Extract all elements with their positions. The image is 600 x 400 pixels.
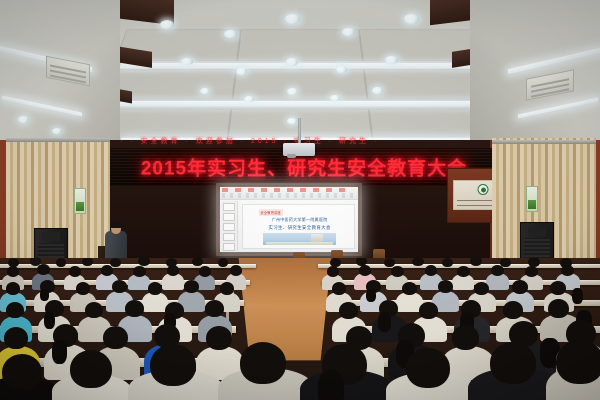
audience-head (110, 258, 121, 267)
downlight (287, 118, 297, 124)
led-banner-text: 2015年实习生、研究生安全教育大会 (108, 154, 500, 181)
projection-screen: 安全教育讲座 广州中医药大学第一附属医院 实习生、研究生安全教育大会 (220, 187, 358, 252)
audience-head (138, 258, 150, 266)
downlight (18, 116, 29, 123)
audience-head (425, 265, 437, 276)
downlight (52, 128, 62, 134)
downlight (336, 66, 347, 73)
current-slide: 安全教育讲座 广州中医药大学第一附属医院 实习生、研究生安全教育大会 (242, 204, 355, 249)
audience-ponytail (318, 370, 344, 400)
audience-head (218, 258, 228, 267)
audience-head (4, 327, 28, 349)
downlight (244, 96, 254, 102)
institution-emblem-icon (478, 184, 489, 195)
audience-head (184, 280, 199, 293)
poster-left (74, 188, 86, 214)
audience-area (0, 258, 600, 400)
audience-head (199, 266, 211, 277)
audience-head (406, 348, 450, 388)
audience-head (332, 282, 346, 295)
slide-line-1: 广州中医药大学第一附属医院 (254, 217, 345, 223)
audience-head (452, 325, 479, 350)
downlight (224, 30, 237, 38)
audience-head (384, 258, 395, 267)
audience-ponytail (52, 340, 67, 364)
audience-head (103, 326, 128, 349)
audience-head (206, 326, 232, 350)
strip-light (119, 101, 481, 107)
slide-photo (263, 233, 336, 246)
audience-head (56, 258, 66, 267)
audience-head (359, 265, 371, 276)
audience-ponytail (44, 312, 55, 329)
audience-head (6, 282, 20, 295)
audience-head (101, 265, 113, 276)
audience-head (339, 302, 358, 319)
projection-screen-frame: 安全教育讲座 广州中医药大学第一附属医院 实习生、研究生安全教育大会 (216, 183, 362, 256)
audience-head (125, 300, 144, 317)
audience-head (503, 301, 523, 319)
audience-ponytail (378, 312, 391, 332)
downlight (286, 58, 298, 66)
strip-light (120, 63, 480, 68)
audience-head (37, 264, 50, 275)
downlight (160, 20, 174, 29)
audience-head (327, 266, 339, 277)
audience-head (230, 265, 242, 276)
audience-head (167, 265, 179, 276)
audience-head (442, 258, 453, 267)
powerpoint-ribbon (220, 187, 358, 200)
conference-photo: · · 安全教育 · 欢迎参加 · 2015 · 实习生 · 研究生 · 201… (0, 0, 600, 400)
audience-head (133, 266, 146, 277)
slide-line-2: 实习生、研究生安全教育大会 (254, 225, 345, 231)
audience-head (561, 265, 574, 276)
audience-head (150, 344, 196, 386)
projector-mount-pole (298, 118, 301, 146)
presenter-body (105, 231, 127, 261)
downlight (181, 58, 193, 65)
curtain-rod-left (6, 138, 110, 142)
audience-head (525, 266, 538, 277)
audience-ponytail (572, 288, 583, 304)
audience-head (7, 266, 19, 277)
audience-head (402, 282, 417, 295)
audience-head (70, 350, 112, 388)
curtain-rod-right (492, 140, 596, 144)
downlight (236, 68, 247, 75)
audience-head (474, 282, 489, 295)
audience-head (2, 354, 42, 390)
audience-ponytail (366, 289, 376, 302)
audience-head (205, 300, 224, 317)
audience-head (6, 302, 24, 318)
audience-head (548, 299, 569, 318)
audience-head (550, 281, 566, 295)
audience-head (412, 258, 424, 266)
audience-head (69, 266, 81, 277)
audience-head (438, 280, 453, 293)
poster-right (526, 186, 538, 212)
downlight (285, 14, 300, 24)
audience-head (391, 266, 404, 277)
slide-badge: 安全教育讲座 (259, 209, 283, 216)
ceiling-soffit-right (470, 0, 600, 150)
presenter-hair (110, 222, 122, 228)
audience-head (490, 342, 536, 384)
audience-head (556, 340, 600, 384)
audience-head (419, 302, 438, 319)
audience-head (112, 280, 127, 293)
downlight (330, 95, 340, 101)
projector (283, 143, 315, 156)
audience-head (85, 302, 103, 318)
downlight (287, 88, 298, 95)
downlight (200, 88, 210, 94)
audience-head (470, 258, 482, 266)
audience-head (192, 258, 203, 266)
audience-head (457, 266, 470, 277)
audience-head (491, 265, 504, 276)
downlight (404, 14, 419, 24)
downlight (342, 28, 355, 36)
audience-head (512, 280, 528, 294)
downlight (385, 56, 398, 64)
audience-ponytail (40, 289, 49, 301)
audience-head (240, 342, 286, 384)
audience-head (82, 258, 93, 266)
audience-head (220, 282, 234, 295)
slide-thumbnail-pane (221, 201, 238, 251)
downlight (372, 87, 383, 94)
audience-head (148, 282, 162, 295)
audience-head (76, 282, 90, 295)
